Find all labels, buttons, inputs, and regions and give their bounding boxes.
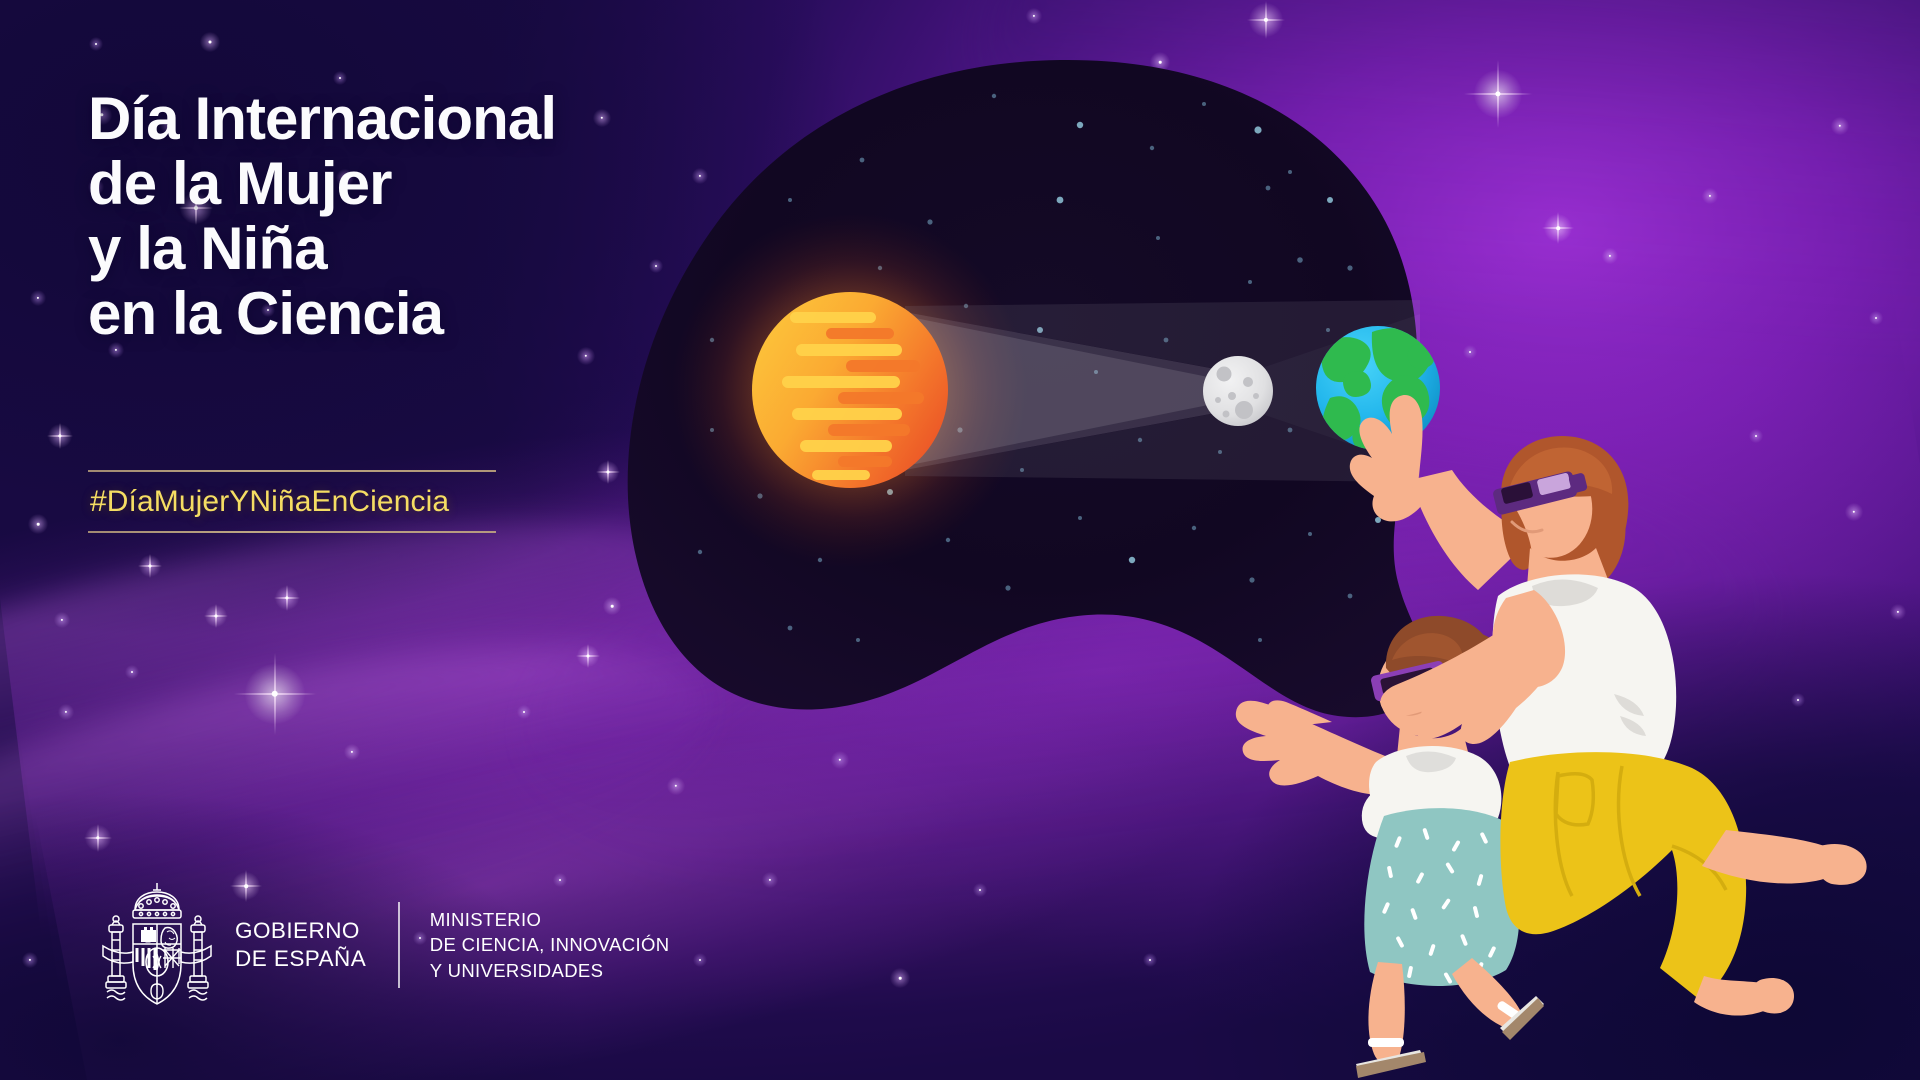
blob-star-dot: [1005, 585, 1010, 590]
blob-star-dot: [1078, 516, 1082, 520]
blob-star-dot: [1248, 280, 1252, 284]
hashtag-rule-bottom: [88, 531, 496, 533]
blob-star-dot: [788, 626, 793, 631]
blob-star-dot: [927, 219, 932, 224]
government-wordmark: GOBIERNO DE ESPAÑA: [235, 917, 366, 972]
blob-star-dot: [1192, 526, 1196, 530]
blob-star-dot: [1156, 236, 1160, 240]
blob-star-dot: [1297, 257, 1303, 263]
headline-line-2: de la Mujer: [88, 151, 728, 216]
hashtag-block: #DíaMujerYNiñaEnCiencia: [88, 470, 496, 533]
blob-star-dot: [1288, 170, 1292, 174]
government-line-1: GOBIERNO: [235, 917, 366, 945]
ministry-wordmark: MINISTERIO DE CIENCIA, INNOVACIÓN Y UNIV…: [430, 907, 670, 982]
hashtag-rule-top: [88, 470, 496, 472]
moon: [1203, 356, 1273, 426]
blob-star-dot: [1129, 557, 1135, 563]
blob-star-dot: [1057, 197, 1064, 204]
blob-star-dot: [1077, 122, 1083, 128]
ministry-line-2: DE CIENCIA, INNOVACIÓN: [430, 932, 670, 957]
logo-lockup: GOBIERNO DE ESPAÑA MINISTERIO DE CIENCIA…: [95, 880, 669, 1010]
ministry-line-1: MINISTERIO: [430, 907, 670, 932]
government-line-2: DE ESPAÑA: [235, 945, 366, 973]
blob-star-dot: [1148, 646, 1153, 651]
blob-star-dot: [928, 678, 932, 682]
blob-star-dot: [1347, 265, 1352, 270]
ministry-line-3: Y UNIVERSIDADES: [430, 958, 670, 983]
blob-star-dot: [1249, 577, 1254, 582]
blob-star-dot: [860, 158, 865, 163]
blob-star-dot: [1202, 102, 1206, 106]
blob-star-dot: [1308, 532, 1312, 536]
hashtag-text: #DíaMujerYNiñaEnCiencia: [88, 472, 496, 531]
page-title: Día Internacional de la Mujer y la Niña …: [88, 86, 728, 346]
headline-line-4: en la Ciencia: [88, 281, 728, 346]
blob-star-dot: [698, 550, 702, 554]
headline-line-3: y la Niña: [88, 216, 728, 281]
blob-star-dot: [1258, 638, 1262, 642]
poster-canvas: Día Internacional de la Mujer y la Niña …: [0, 0, 1920, 1080]
logo-divider: [398, 902, 400, 988]
blob-star-dot: [1254, 126, 1261, 133]
blob-star-dot: [1348, 594, 1353, 599]
blob-star-dot: [1327, 197, 1333, 203]
blob-star-dot: [856, 638, 860, 642]
blob-star-dot: [1150, 146, 1154, 150]
sun: [752, 292, 948, 488]
headline-line-1: Día Internacional: [88, 86, 728, 151]
blob-star-dot: [992, 94, 996, 98]
blob-star-dot: [788, 198, 792, 202]
spanish-coat-of-arms-icon: [95, 880, 219, 1010]
blob-star-dot: [1266, 186, 1271, 191]
